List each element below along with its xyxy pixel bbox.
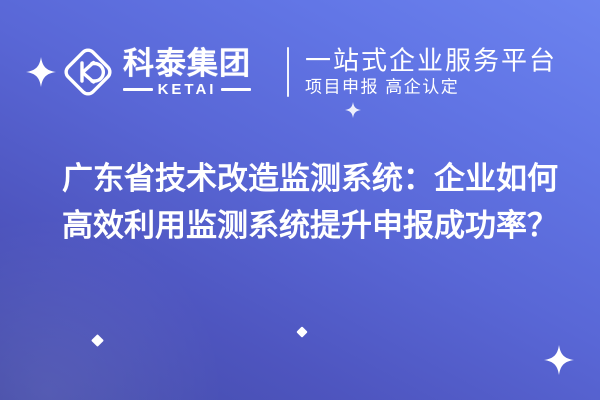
four-point-sparkle-icon (345, 102, 361, 118)
diamond-dot-icon (91, 334, 104, 347)
banner-header: 科泰集团 KETAI 一站式企业服务平台 项目申报 高企认定 (0, 36, 600, 108)
promo-banner: 科泰集团 KETAI 一站式企业服务平台 项目申报 高企认定 广东省技术改造监测… (0, 0, 600, 400)
diamond-dot-icon (296, 326, 307, 337)
four-point-sparkle-icon (544, 345, 574, 375)
tagline-main-text: 一站式企业服务平台 (305, 47, 557, 76)
ketai-diamond-monogram-icon (62, 46, 114, 98)
header-tagline: 一站式企业服务平台 项目申报 高企认定 (305, 47, 557, 98)
four-point-sparkle-icon (26, 57, 56, 87)
wordmark-rule-left (123, 88, 153, 91)
logo-company-name-en: KETAI (158, 82, 217, 97)
logo-english-row: KETAI (123, 82, 251, 97)
logo-company-name-cn: 科泰集团 (123, 48, 251, 79)
tagline-sub-text: 项目申报 高企认定 (305, 78, 557, 98)
logo-wordmark: 科泰集团 KETAI (123, 48, 251, 97)
company-logo[interactable]: 科泰集团 KETAI (62, 46, 251, 98)
header-divider (287, 47, 289, 97)
banner-headline: 广东省技术改造监测系统：企业如何高效利用监测系统提升申报成功率？ (62, 155, 562, 249)
wordmark-rule-right (221, 88, 251, 91)
